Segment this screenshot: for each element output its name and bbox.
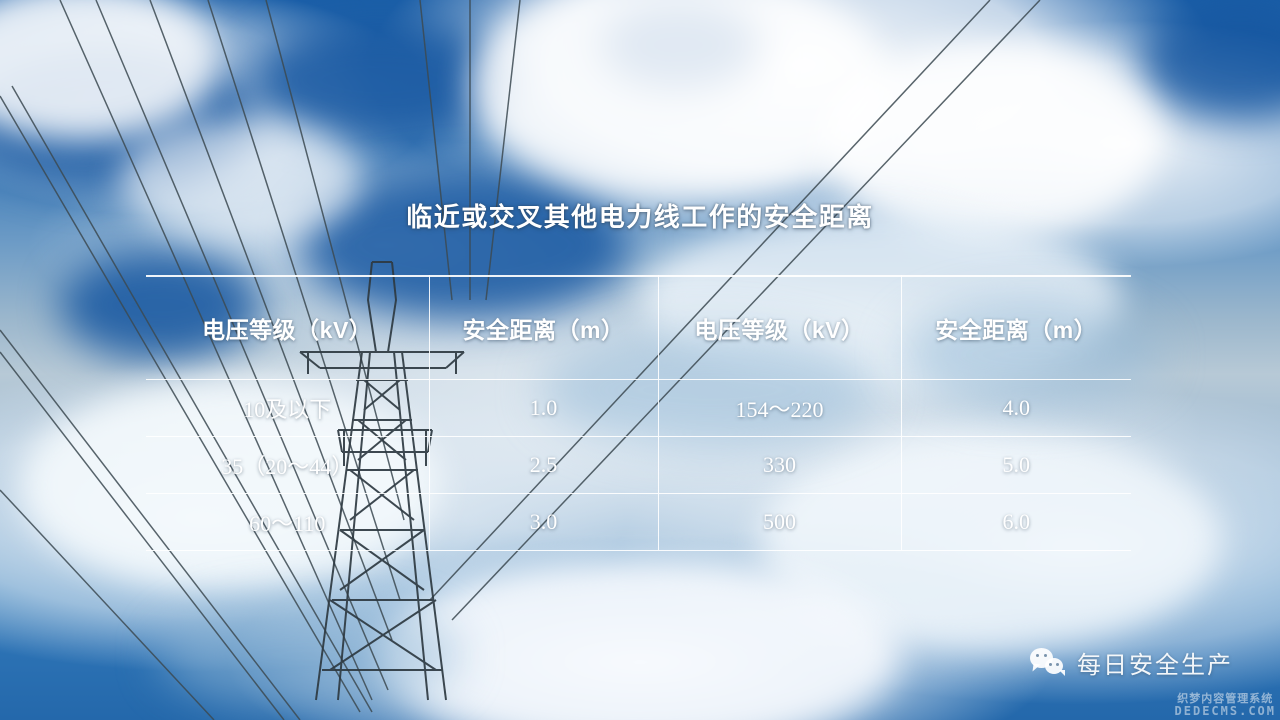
cell-voltage-left: 60～110 — [146, 493, 429, 550]
cell-voltage-right: 154～220 — [658, 379, 901, 436]
cell-distance-left: 2.5 — [429, 436, 658, 493]
cell-voltage-right: 500 — [658, 493, 901, 550]
dedecms-watermark: 织梦内容管理系统 DEDECMS.COM — [1175, 694, 1276, 718]
cell-distance-left: 1.0 — [429, 379, 658, 436]
column-header-distance-right: 安全距离（m） — [901, 276, 1131, 379]
table-row: 60～110 3.0 500 6.0 — [146, 493, 1131, 550]
table-row: 10及以下 1.0 154～220 4.0 — [146, 379, 1131, 436]
column-header-distance-left: 安全距离（m） — [429, 276, 658, 379]
dedecms-watermark-en: DEDECMS.COM — [1175, 705, 1276, 718]
table-row: 35（20～44） 2.5 330 5.0 — [146, 436, 1131, 493]
cell-voltage-left: 10及以下 — [146, 379, 429, 436]
cell-distance-left: 3.0 — [429, 493, 658, 550]
cell-voltage-right: 330 — [658, 436, 901, 493]
page-title: 临近或交叉其他电力线工作的安全距离 — [0, 197, 1280, 234]
column-header-voltage-right: 电压等级（kV） — [658, 276, 901, 379]
cell-distance-right: 6.0 — [901, 493, 1131, 550]
wechat-account-name: 每日安全生产 — [1077, 645, 1233, 680]
cell-distance-right: 5.0 — [901, 436, 1131, 493]
safety-distance-table: 电压等级（kV） 安全距离（m） 电压等级（kV） 安全距离（m） 10及以下 … — [146, 275, 1131, 551]
wechat-watermark: 每日安全生产 — [1030, 645, 1233, 680]
table-header-row: 电压等级（kV） 安全距离（m） 电压等级（kV） 安全距离（m） — [146, 276, 1131, 379]
wechat-icon — [1030, 648, 1066, 678]
cell-distance-right: 4.0 — [901, 379, 1131, 436]
column-header-voltage-left: 电压等级（kV） — [146, 276, 429, 379]
cell-voltage-left: 35（20～44） — [146, 436, 429, 493]
